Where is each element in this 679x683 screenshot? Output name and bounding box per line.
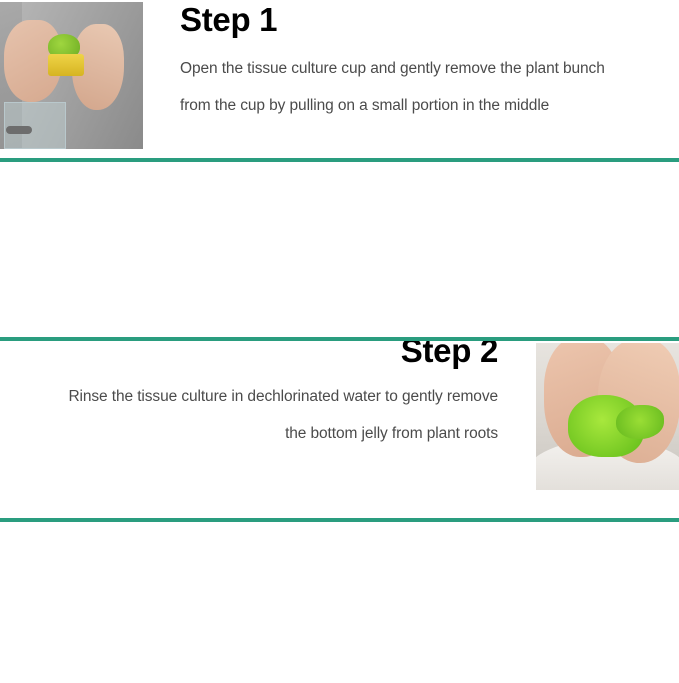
step-section-1: Step 1 Open the tissue culture cup and g… [0,0,679,160]
step-section-4: Step 4 Use aquascaping tweezers or pinse… [0,523,679,683]
steps-infographic: Step 1 Open the tissue culture cup and g… [0,0,679,683]
step-1-text: Step 1 Open the tissue culture cup and g… [180,0,624,124]
hose-shape [6,126,32,134]
step-1-description: Open the tissue culture cup and gently r… [180,50,624,124]
section-divider-1 [0,158,679,162]
step-1-title: Step 1 [180,0,624,40]
step-1-image [0,2,143,149]
section-divider-2 [0,337,679,341]
yellow-cup-shape [48,54,84,76]
section-divider-3 [0,518,679,522]
step-section-2: Step 2 Rinse the tissue culture in dechl… [0,163,679,339]
step-section-3: Step 3 Gently separate tissue culture bu… [0,342,679,520]
